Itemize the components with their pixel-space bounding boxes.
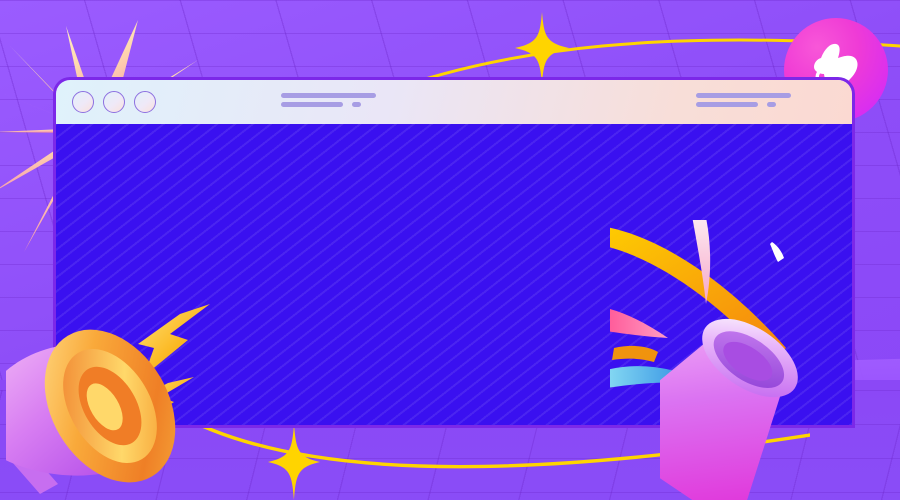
confetti-fleck-white xyxy=(770,242,784,262)
party-popper-icon xyxy=(660,266,900,500)
placeholder-bar-dot xyxy=(767,102,776,107)
placeholder-bar-long xyxy=(281,93,376,98)
window-maximize-dot-icon[interactable] xyxy=(134,91,156,113)
promo-poster: 视频号2024创作者分成 轻松原创爆流量 只需要复制粘贴 日入4位数 xyxy=(0,0,900,500)
confetti-chip-orange xyxy=(612,346,658,362)
megaphone-icon xyxy=(6,312,206,500)
window-minimize-dot-icon[interactable] xyxy=(103,91,125,113)
traffic-light-dots xyxy=(72,91,156,113)
browser-title-bar xyxy=(56,80,852,124)
placeholder-bar-medium xyxy=(281,102,343,107)
placeholder-bar-long xyxy=(696,93,791,98)
placeholder-bar-medium xyxy=(696,102,758,107)
placeholder-bars-right xyxy=(696,93,791,107)
placeholder-bar-dot xyxy=(352,102,361,107)
window-close-dot-icon[interactable] xyxy=(72,91,94,113)
placeholder-bars-left xyxy=(281,93,376,107)
